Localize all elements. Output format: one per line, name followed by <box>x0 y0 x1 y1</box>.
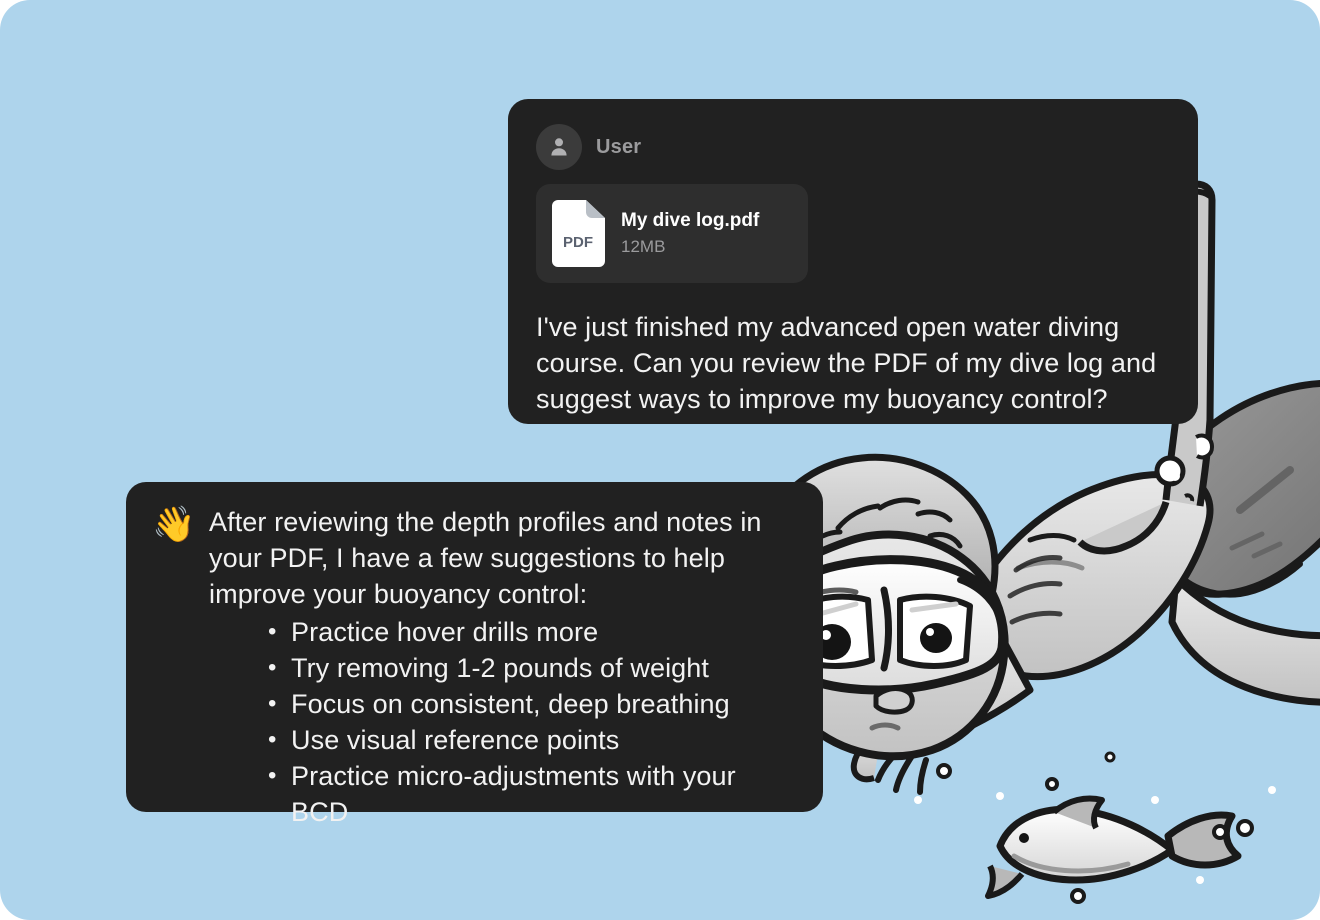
assistant-paragraph: After reviewing the depth profiles and n… <box>209 504 797 612</box>
suggestions-list: Practice hover drills more Try removing … <box>152 614 797 830</box>
person-avatar-icon <box>536 124 582 170</box>
list-item: Use visual reference points <box>152 722 797 758</box>
assistant-message-bubble: 👋 After reviewing the depth profiles and… <box>126 482 823 812</box>
user-message-bubble: User PDF My dive log.pdf 12MB I've just … <box>508 99 1198 424</box>
air-bubbles <box>914 383 1276 902</box>
attachment-filename: My dive log.pdf <box>621 210 759 232</box>
list-item: Practice micro-adjustments with your BCD <box>152 758 797 830</box>
sender-name: User <box>596 136 641 159</box>
user-message-text: I've just finished my advanced open wate… <box>536 309 1170 417</box>
pdf-attachment-card[interactable]: PDF My dive log.pdf 12MB <box>536 184 808 283</box>
list-item: Practice hover drills more <box>152 614 797 650</box>
screenshot-canvas: User PDF My dive log.pdf 12MB I've just … <box>0 0 1320 920</box>
list-item: Try removing 1-2 pounds of weight <box>152 650 797 686</box>
pdf-file-icon: PDF <box>552 200 605 267</box>
list-item: Focus on consistent, deep breathing <box>152 686 797 722</box>
assistant-intro: 👋 After reviewing the depth profiles and… <box>152 504 797 612</box>
user-header: User <box>536 123 1170 171</box>
attachment-meta: My dive log.pdf 12MB <box>621 210 759 257</box>
fish <box>988 799 1238 897</box>
svg-text:PDF: PDF <box>563 234 593 251</box>
waving-hand-emoji: 👋 <box>152 504 209 544</box>
attachment-filesize: 12MB <box>621 237 759 257</box>
